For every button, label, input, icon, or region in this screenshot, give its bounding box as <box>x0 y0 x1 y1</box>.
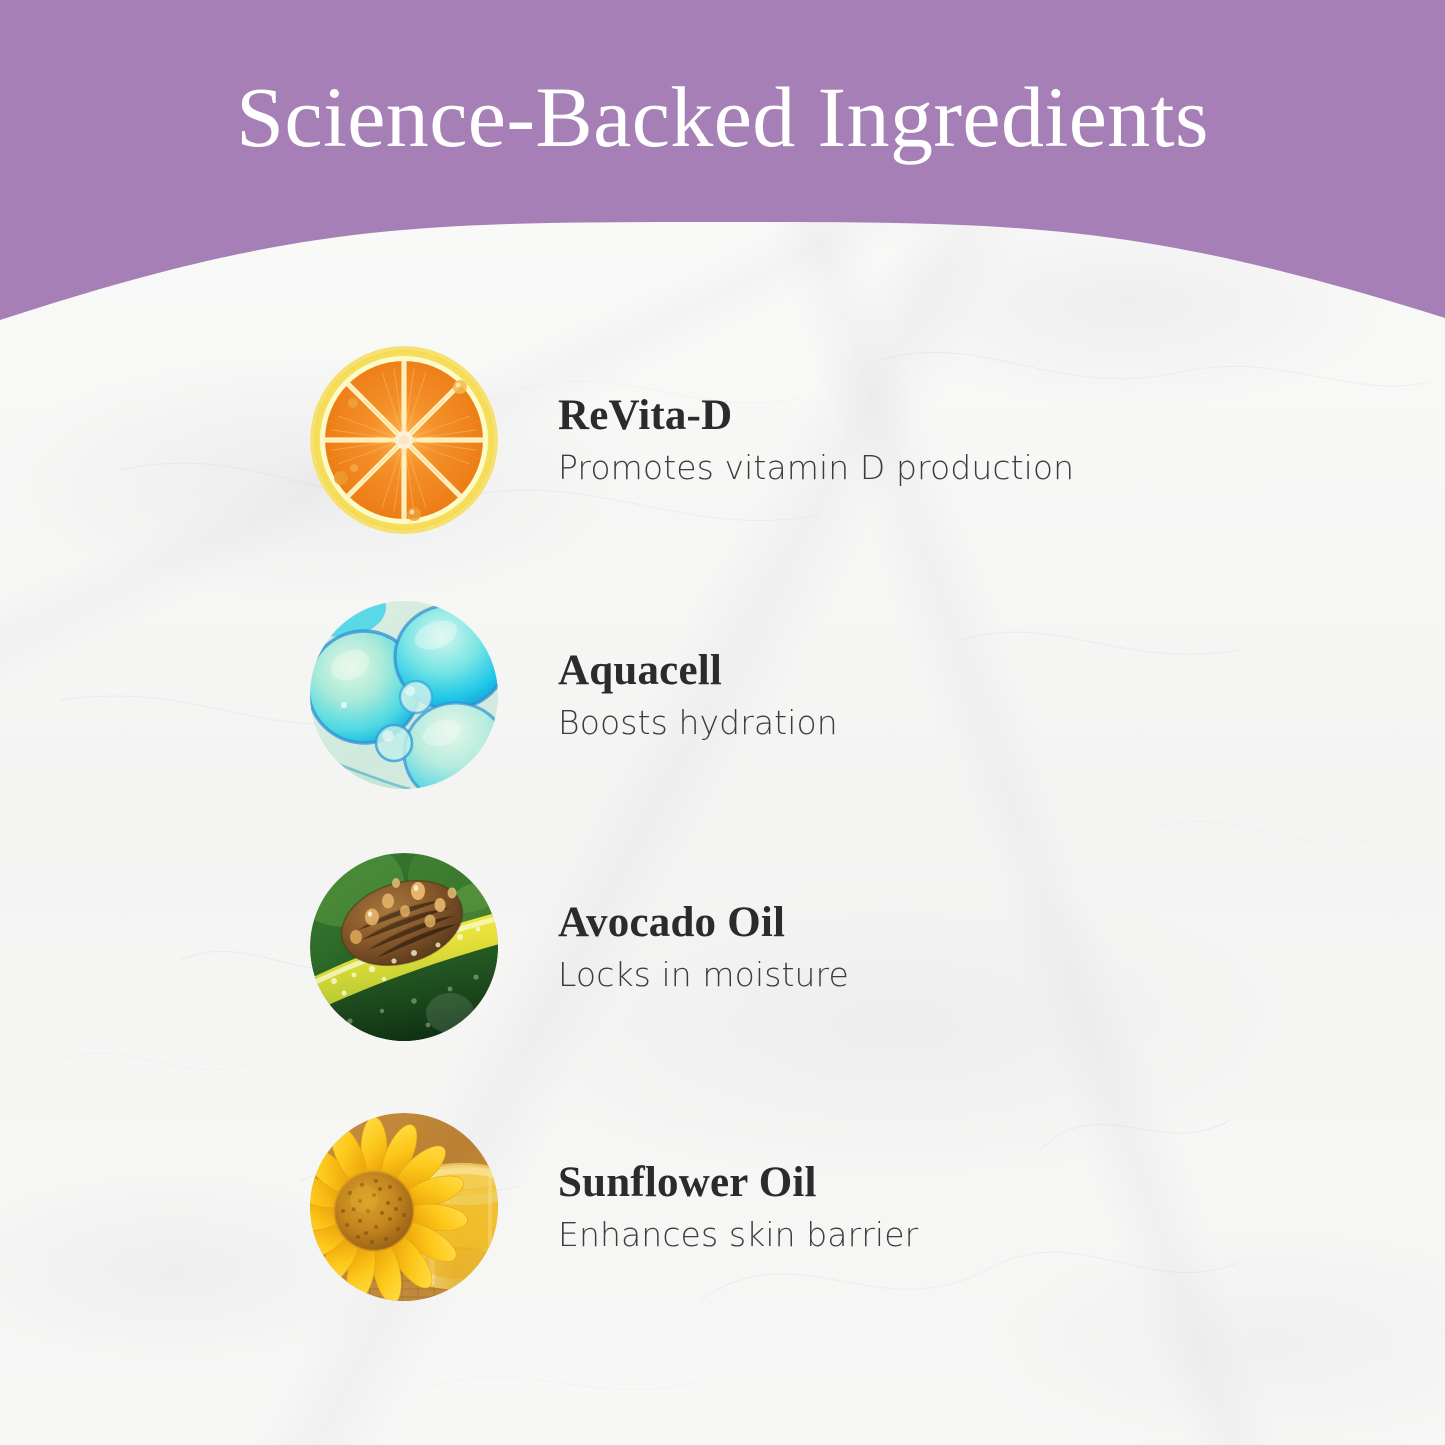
water-bubbles-icon <box>310 601 498 789</box>
ingredient-name: Avocado Oil <box>558 901 849 944</box>
ingredient-row-avocado-oil: Avocado Oil Locks in moisture <box>310 852 1390 1042</box>
orange-slice-icon <box>310 346 498 534</box>
ingredient-row-sunflower-oil: Sunflower Oil Enhances skin barrier <box>310 1112 1390 1302</box>
ingredient-description: Boosts hydration <box>558 705 838 741</box>
ingredient-name: Sunflower Oil <box>558 1161 918 1204</box>
ingredients-infographic: Science-Backed Ingredients <box>0 0 1445 1445</box>
ingredient-text-avocado-oil: Avocado Oil Locks in moisture <box>558 901 849 993</box>
ingredient-list: ReVita-D Promotes vitamin D production <box>0 0 1445 1445</box>
ingredient-row-aquacell: Aquacell Boosts hydration <box>310 600 1390 790</box>
ingredient-text-sunflower-oil: Sunflower Oil Enhances skin barrier <box>558 1161 918 1253</box>
avocado-illustration <box>310 853 498 1041</box>
sunflower-oil-illustration <box>310 1113 498 1301</box>
ingredient-name: Aquacell <box>558 649 838 692</box>
orange-slice-illustration <box>310 346 498 534</box>
ingredient-text-aquacell: Aquacell Boosts hydration <box>558 649 838 741</box>
avocado-icon <box>310 853 498 1041</box>
sunflower-oil-icon <box>310 1113 498 1301</box>
ingredient-row-revita-d: ReVita-D Promotes vitamin D production <box>310 345 1390 535</box>
ingredient-description: Promotes vitamin D production <box>558 450 1074 486</box>
ingredient-description: Enhances skin barrier <box>558 1217 918 1253</box>
ingredient-name: ReVita-D <box>558 394 1074 437</box>
ingredient-description: Locks in moisture <box>558 957 849 993</box>
ingredient-text-revita-d: ReVita-D Promotes vitamin D production <box>558 394 1074 486</box>
water-bubbles-illustration <box>310 601 498 789</box>
